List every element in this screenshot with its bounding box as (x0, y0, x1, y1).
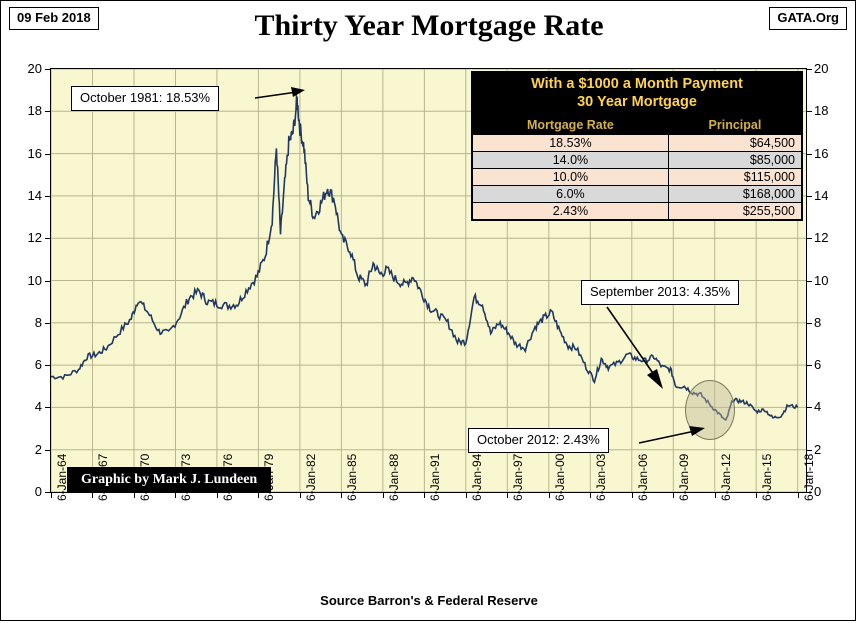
y-tick-label: 12 (814, 231, 846, 244)
x-tick-mark (756, 493, 757, 498)
x-tick-mark (715, 493, 716, 498)
x-tick-mark (549, 493, 550, 498)
annotation-october-2012: October 2012: 2.43% (468, 428, 609, 453)
y-tick-label: 18 (814, 104, 846, 117)
table-title-line2: 30 Year Mortgage (472, 94, 802, 115)
y-tick-mark (807, 281, 812, 282)
y-tick-label: 16 (814, 147, 846, 160)
y-tick-label: 0 (10, 485, 42, 498)
x-tick-mark (466, 493, 467, 498)
y-tick-label: 20 (814, 62, 846, 75)
y-tick-label: 8 (10, 316, 42, 329)
y-tick-label: 0 (814, 485, 846, 498)
x-tick-mark (51, 493, 52, 498)
y-tick-mark (45, 111, 50, 112)
table-row: 18.53%$64,500 (473, 135, 802, 152)
y-tick-mark (807, 450, 812, 451)
x-tick-label: 6-Jan-94 (471, 454, 483, 501)
x-tick-label: 6-Jan-03 (595, 454, 607, 501)
annotation-october-1981: October 1981: 18.53% (71, 86, 219, 111)
x-tick-mark (175, 493, 176, 498)
y-tick-mark (807, 323, 812, 324)
y-tick-label: 6 (814, 358, 846, 371)
x-tick-mark (341, 493, 342, 498)
cell-principal: $85,000 (668, 152, 801, 169)
cell-principal: $255,500 (668, 203, 801, 220)
y-tick-mark (807, 492, 812, 493)
y-tick-label: 4 (814, 400, 846, 413)
x-tick-mark (300, 493, 301, 498)
y-tick-mark (807, 69, 812, 70)
annotation-arrow-1981 (253, 81, 309, 115)
y-tick-mark (807, 154, 812, 155)
y-tick-label: 8 (814, 316, 846, 329)
y-tick-label: 20 (10, 62, 42, 75)
x-tick-mark (258, 493, 259, 498)
x-tick-label: 6-Jan-88 (388, 454, 400, 501)
table-row: 10.0%$115,000 (473, 169, 802, 186)
cell-mortgage-rate: 14.0% (473, 152, 669, 169)
x-tick-label: 6-Jan-15 (761, 454, 773, 501)
x-tick-label: 6-Jan-97 (512, 454, 524, 501)
chart-caption: Source Barron's & Federal Reserve (1, 593, 857, 608)
y-tick-label: 4 (10, 400, 42, 413)
x-tick-mark (92, 493, 93, 498)
x-tick-label: 6-Jan-85 (346, 454, 358, 501)
column-header-rate: Mortgage Rate (473, 116, 669, 135)
y-tick-mark (45, 69, 50, 70)
rate-principal-table: Mortgage Rate Principal 18.53%$64,50014.… (472, 115, 802, 220)
annotation-arrow-2012 (637, 419, 717, 459)
table-title-line1: With a $1000 a Month Payment (472, 72, 802, 94)
x-tick-mark (590, 493, 591, 498)
y-tick-mark (45, 238, 50, 239)
cell-mortgage-rate: 18.53% (473, 135, 669, 152)
y-tick-mark (807, 365, 812, 366)
x-tick-mark (134, 493, 135, 498)
x-tick-label: 6-Jan-91 (429, 454, 441, 501)
y-tick-mark (45, 407, 50, 408)
y-tick-mark (807, 407, 812, 408)
y-tick-label: 18 (10, 104, 42, 117)
cell-mortgage-rate: 10.0% (473, 169, 669, 186)
x-tick-label: 6-Jan-12 (720, 454, 732, 501)
table-row: 14.0%$85,000 (473, 152, 802, 169)
x-tick-label: 6-Jan-18 (803, 454, 815, 501)
y-tick-label: 2 (10, 443, 42, 456)
cell-principal: $115,000 (668, 169, 801, 186)
y-tick-mark (45, 281, 50, 282)
y-tick-label: 2 (814, 443, 846, 456)
mortgage-rate-table: With a $1000 a Month Payment 30 Year Mor… (471, 71, 803, 221)
y-tick-label: 14 (10, 189, 42, 202)
x-tick-mark (673, 493, 674, 498)
cell-mortgage-rate: 6.0% (473, 186, 669, 203)
x-tick-label: 6-Jan-00 (554, 454, 566, 501)
chart-frame: 09 Feb 2018 GATA.Org Thirty Year Mortgag… (0, 0, 856, 621)
page-title: Thirty Year Mortgage Rate (1, 9, 857, 43)
x-tick-label: 6-Jan-82 (305, 454, 317, 501)
cell-principal: $64,500 (668, 135, 801, 152)
table-row: 6.0%$168,000 (473, 186, 802, 203)
y-tick-mark (45, 492, 50, 493)
x-tick-mark (632, 493, 633, 498)
y-tick-label: 16 (10, 147, 42, 160)
column-header-principal: Principal (668, 116, 801, 135)
x-tick-mark (383, 493, 384, 498)
table-header-row: Mortgage Rate Principal (473, 116, 802, 135)
x-tick-label: 6-Jan-09 (678, 454, 690, 501)
x-tick-mark (798, 493, 799, 498)
y-tick-mark (45, 154, 50, 155)
y-tick-mark (45, 323, 50, 324)
cell-mortgage-rate: 2.43% (473, 203, 669, 220)
cell-principal: $168,000 (668, 186, 801, 203)
y-tick-mark (807, 196, 812, 197)
y-tick-mark (45, 196, 50, 197)
y-tick-label: 10 (10, 274, 42, 287)
y-tick-label: 10 (814, 274, 846, 287)
y-tick-mark (45, 365, 50, 366)
x-tick-mark (217, 493, 218, 498)
x-tick-label: 6-Jan-06 (637, 454, 649, 501)
y-tick-label: 6 (10, 358, 42, 371)
y-tick-mark (807, 111, 812, 112)
y-tick-label: 12 (10, 231, 42, 244)
x-tick-mark (507, 493, 508, 498)
table-row: 2.43%$255,500 (473, 203, 802, 220)
y-tick-mark (45, 450, 50, 451)
graphic-credit: Graphic by Mark J. Lundeen (67, 467, 271, 493)
x-tick-mark (424, 493, 425, 498)
y-tick-mark (807, 238, 812, 239)
annotation-arrow-2013 (601, 301, 671, 401)
y-tick-label: 14 (814, 189, 846, 202)
